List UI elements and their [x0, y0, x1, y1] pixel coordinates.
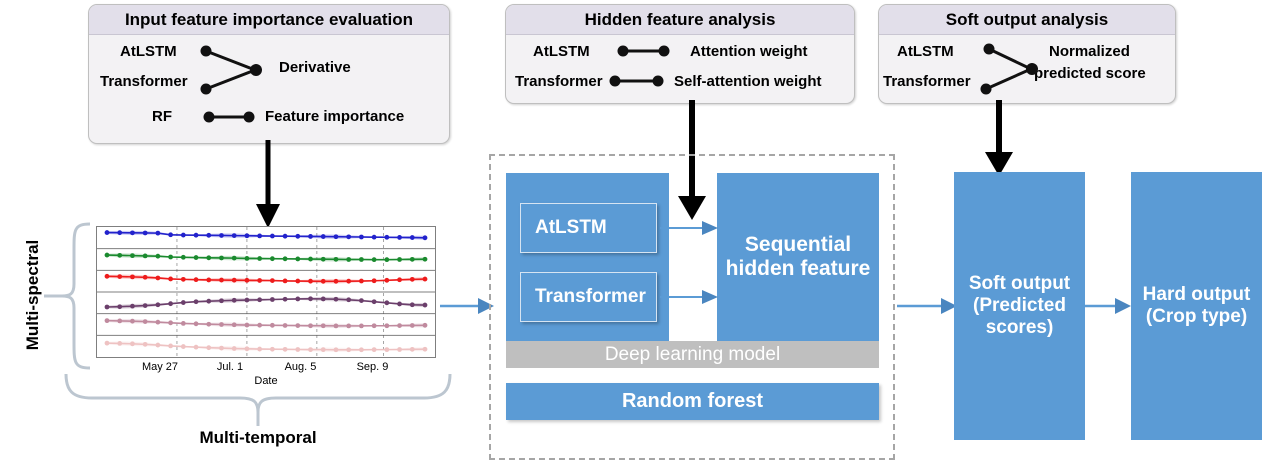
- soft-output-line3: scores): [986, 317, 1054, 339]
- random-forest-label: Random forest: [622, 390, 763, 413]
- hard-output-box[interactable]: Hard output (Crop type): [1131, 172, 1262, 440]
- soft-output-line1: Soft output: [969, 273, 1070, 295]
- arrow-transformer-to-hidden: [660, 287, 722, 307]
- hidden-feature-line2: hidden feature: [726, 257, 871, 281]
- deep-learning-model-bar: Deep learning model: [506, 341, 879, 368]
- soft-output-box[interactable]: Soft output (Predicted scores): [954, 172, 1085, 440]
- arrow-atlstm-to-hidden: [660, 218, 722, 238]
- legend-connector-graphic-2: [506, 35, 854, 103]
- hidden-feature-line1: Sequential: [745, 233, 851, 257]
- legend-title-input-feature: Input feature importance evaluation: [89, 5, 449, 35]
- arrow-legend1-to-chart: [248, 140, 288, 230]
- arrow-chart-to-model: [440, 294, 496, 318]
- brace-multi-spectral: [40, 222, 92, 370]
- random-forest-box[interactable]: Random forest: [506, 383, 879, 420]
- legend-body-input-feature: AtLSTM Transformer RF Derivative Feature…: [89, 35, 449, 143]
- sequential-hidden-feature-box: Sequential hidden feature: [717, 173, 879, 341]
- deep-learning-model-label: Deep learning model: [605, 344, 780, 366]
- legend-body-hidden-feature: AtLSTM Transformer Attention weight Self…: [506, 35, 854, 103]
- legend-title-soft-output: Soft output analysis: [879, 5, 1175, 35]
- legend-input-feature-importance: Input feature importance evaluation AtLS…: [88, 4, 450, 144]
- hard-output-line1: Hard output: [1143, 284, 1251, 306]
- submodel-atlstm[interactable]: AtLSTM: [520, 203, 657, 253]
- legend-body-soft-output: AtLSTM Transformer Normalized predicted …: [879, 35, 1175, 103]
- legend-hidden-feature-analysis: Hidden feature analysis AtLSTM Transform…: [505, 4, 855, 104]
- hard-output-line2: (Crop type): [1146, 306, 1247, 328]
- submodel-transformer-label: Transformer: [535, 286, 646, 308]
- submodel-atlstm-label: AtLSTM: [535, 217, 607, 239]
- multispectral-timeseries-chart: [96, 226, 436, 358]
- multi-temporal-label: Multi-temporal: [158, 428, 358, 448]
- legend-title-hidden-feature: Hidden feature analysis: [506, 5, 854, 35]
- legend-connector-graphic-1: [89, 35, 449, 143]
- soft-output-line2: (Predicted: [973, 295, 1066, 317]
- brace-multi-temporal: [64, 372, 464, 420]
- submodel-transformer[interactable]: Transformer: [520, 272, 657, 322]
- arrow-legend3-to-soft-output: [979, 100, 1019, 178]
- chart-series-svg: [97, 227, 435, 357]
- legend-connector-graphic-3: [879, 35, 1175, 103]
- arrow-soft-to-hard-output: [1085, 294, 1133, 318]
- arrow-model-to-soft-output: [897, 294, 959, 318]
- legend-soft-output-analysis: Soft output analysis AtLSTM Transformer …: [878, 4, 1176, 104]
